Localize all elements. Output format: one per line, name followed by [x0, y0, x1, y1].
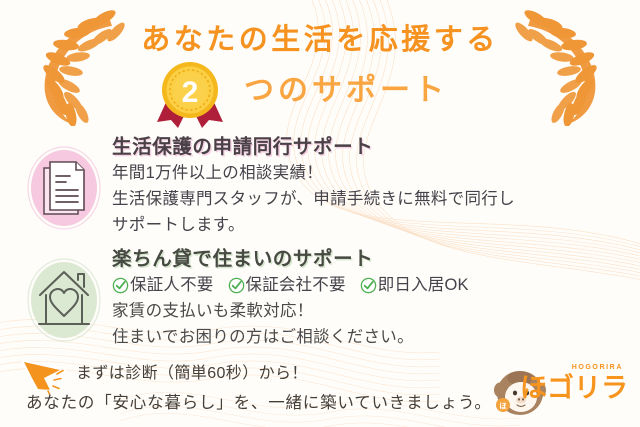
section-2-check-row: 保証人不要 保証会社不要 即日入居OK: [112, 272, 632, 298]
section-1-content: 生活保護の申請同行サポート 年間1万件以上の相談実績！ 生活保護専門スタッフが、…: [112, 134, 632, 238]
banner-footer: まずは診断（簡単60秒）から！ あなたの「安心な暮らし」を、一緒に築いていきまし…: [0, 352, 640, 427]
section-2-line-2: 住まいでお困りの方はご相談ください。: [112, 324, 632, 350]
logo-romaji-text: HOGORIRA: [572, 364, 623, 371]
document-icon: [26, 138, 102, 234]
check-label-1: 保証人不要: [130, 272, 214, 298]
house-heart-icon: [26, 250, 102, 346]
logo-japanese-text: ほゴリラ: [520, 372, 628, 404]
section-1-heading: 生活保護の申請同行サポート: [112, 134, 632, 160]
banner-header: あなたの生活を応援する 2 つのサポート: [0, 0, 640, 128]
section-2-heading: 楽ちん貸で住まいのサポート: [112, 246, 632, 272]
section-2-line-1: 家賃の支払いも柔軟対応！: [112, 298, 632, 324]
check-label-3: 即日入居OK: [378, 272, 469, 298]
section-1-line-3: サポートします。: [112, 212, 632, 238]
promo-banner: あなたの生活を応援する 2 つのサポート: [0, 0, 640, 427]
check-circle-icon: [112, 277, 129, 294]
check-label-2: 保証会社不要: [246, 272, 346, 298]
footer-line-2: あなたの「安心な暮らし」を、一緒に築いていきましょう。: [26, 390, 492, 416]
check-item-3: 即日入居OK: [360, 272, 469, 298]
banner-title-line-2: つのサポート: [0, 68, 640, 114]
section-1-line-1: 年間1万件以上の相談実績！: [112, 160, 632, 186]
check-circle-icon: [360, 277, 377, 294]
banner-title-line-1: あなたの生活を応援する: [0, 20, 640, 60]
section-1-line-2: 生活保護専門スタッフが、申請手続きに無料で同行し: [112, 186, 632, 212]
check-circle-icon: [228, 277, 245, 294]
svg-text:ほ: ほ: [499, 402, 507, 411]
check-item-1: 保証人不要: [112, 272, 214, 298]
check-item-2: 保証会社不要: [228, 272, 346, 298]
section-2-content: 楽ちん貸で住まいのサポート 保証人不要 保証会社不要: [112, 246, 632, 350]
footer-line-1: まずは診断（簡単60秒）から！: [76, 362, 308, 386]
